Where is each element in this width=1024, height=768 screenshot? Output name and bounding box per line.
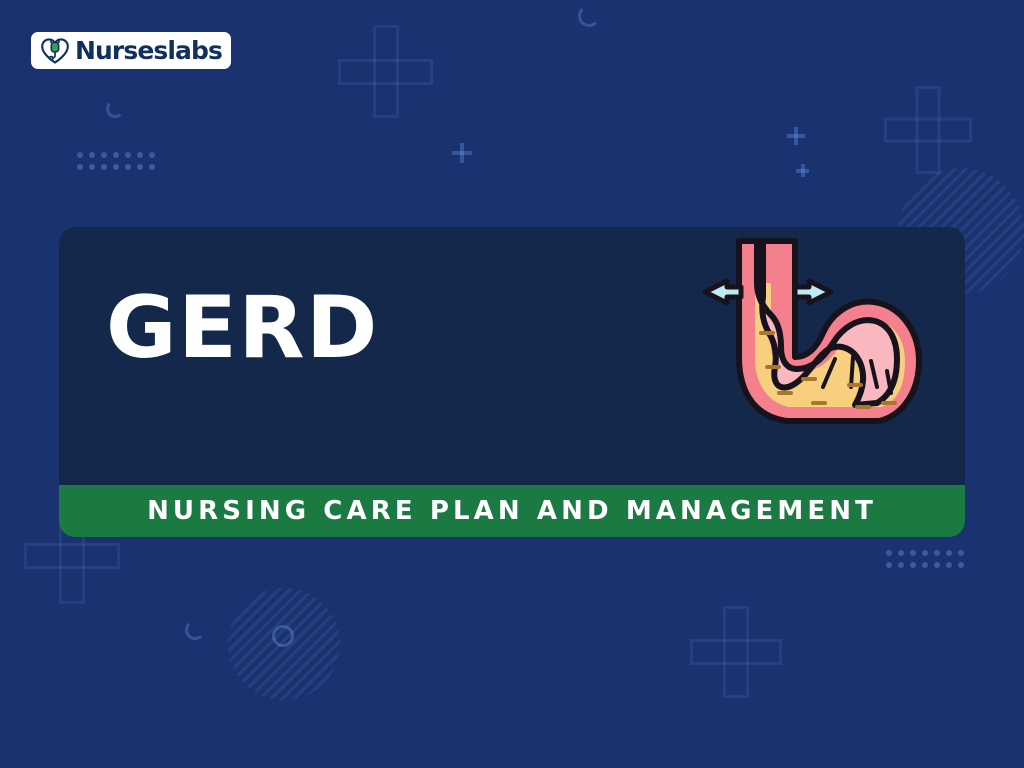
dot-grid bbox=[77, 152, 161, 176]
ring-decor bbox=[272, 625, 294, 647]
slide-canvas: Nurseslabs GERD bbox=[0, 0, 1024, 768]
plus-small-icon bbox=[787, 127, 805, 145]
plus-outline-icon bbox=[690, 606, 782, 698]
page-title: GERD bbox=[106, 285, 379, 371]
plus-small-icon bbox=[796, 164, 809, 177]
arrow-left-icon bbox=[705, 281, 741, 303]
plus-small-icon bbox=[452, 143, 472, 163]
nurseslabs-logo[interactable]: Nurseslabs bbox=[31, 32, 231, 69]
arrow-right-icon bbox=[795, 281, 831, 303]
crescent-arc-decor bbox=[578, 5, 600, 27]
subtitle-text: NURSING CARE PLAN AND MANAGEMENT bbox=[147, 496, 877, 526]
crescent-arc-decor bbox=[106, 100, 124, 118]
plus-outline-icon bbox=[884, 86, 972, 174]
logo-wordmark: Nurseslabs bbox=[75, 38, 222, 63]
plus-outline-icon bbox=[338, 25, 433, 118]
dot-grid bbox=[886, 550, 970, 574]
content-card: GERD bbox=[59, 227, 965, 537]
subtitle-banner: NURSING CARE PLAN AND MANAGEMENT bbox=[59, 485, 965, 537]
crescent-arc-decor bbox=[185, 620, 205, 640]
heart-stethoscope-icon bbox=[40, 37, 70, 65]
stomach-reflux-illustration bbox=[683, 237, 939, 467]
